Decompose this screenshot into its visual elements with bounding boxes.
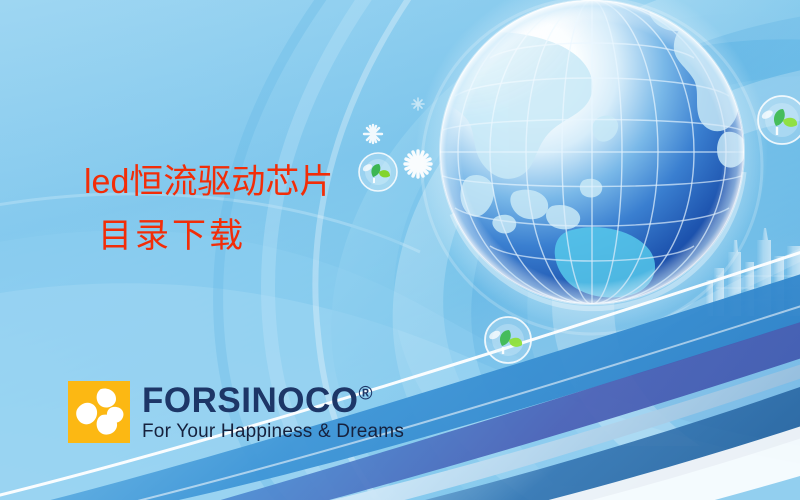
company-logo[interactable]: FORSINOCO® For Your Happiness & Dreams (68, 381, 404, 443)
logo-wordmark: FORSINOCO® (142, 383, 404, 418)
headline-line-1: led恒流驱动芯片 (84, 162, 333, 202)
headline-line-2: 目录下载 (98, 216, 333, 256)
bubble-leaf-globe (359, 153, 397, 191)
bubble-leaf-globe (758, 96, 800, 144)
headline: led恒流驱动芯片 目录下载 (84, 162, 333, 256)
logo-text-block: FORSINOCO® For Your Happiness & Dreams (142, 381, 404, 443)
logo-tagline: For Your Happiness & Dreams (142, 421, 404, 443)
logo-wordmark-text: FORSINOCO (142, 381, 358, 420)
bubble-leaf-globe (485, 317, 531, 363)
four-petal-flower-mark (68, 381, 130, 443)
promo-banner: led恒流驱动芯片 目录下载 FORSINOCO® For Your Happi… (0, 0, 800, 500)
registered-trademark-icon: ® (358, 383, 373, 404)
